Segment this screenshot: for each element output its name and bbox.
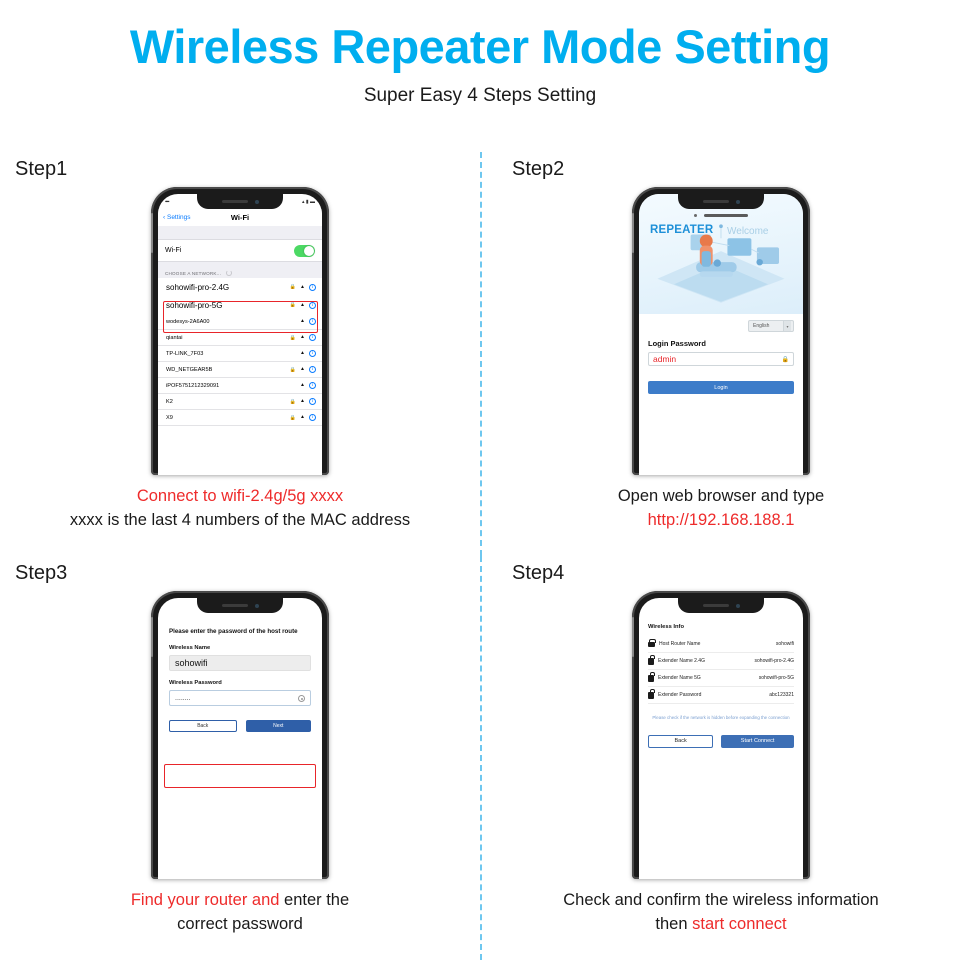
phone-mockup-1: ▪▪▪ ▪ 9:41 ▴ ▮ ▬ ‹ Settings Wi-Fi	[151, 187, 329, 475]
step-2-caption-line2: http://192.168.188.1	[500, 509, 942, 533]
wireless-info-label: Extender Password	[658, 692, 701, 698]
step-1-caption-line1: Connect to wifi-2.4g/5g xxxx	[18, 485, 462, 509]
login-button[interactable]: Login	[648, 381, 794, 394]
wireless-info-row: Extender Name 2.4Gsohowifi-pro-2.4G	[648, 653, 794, 670]
wifi-signal-icon: ▲	[300, 335, 305, 340]
network-list-item[interactable]: K2🔒▲i	[158, 394, 322, 410]
extender-icon	[648, 692, 654, 699]
info-icon[interactable]: i	[309, 414, 316, 421]
camera-icon	[255, 604, 259, 608]
speaker-icon	[222, 604, 248, 607]
wireless-info-value: sohowifi-pro-5G	[759, 675, 794, 681]
infographic-page: Wireless Repeater Mode Setting Super Eas…	[0, 0, 960, 960]
page-header: Wireless Repeater Mode Setting Super Eas…	[0, 0, 960, 107]
phone-screen-wireless-info: Wireless Info Host Router NamesohowifiEx…	[639, 598, 803, 879]
wireless-info-row: Extender Name 5Gsohowifi-pro-5G	[648, 670, 794, 687]
wireless-info-label: Extender Name 2.4G	[658, 658, 705, 664]
battery-icon: ▴ ▮ ▬	[302, 199, 315, 205]
wifi-signal-icon: ▲	[300, 285, 305, 290]
info-icon[interactable]: i	[309, 302, 316, 309]
step-1-label: Step1	[15, 158, 480, 181]
ios-nav-bar: ‹ Settings Wi-Fi	[158, 209, 322, 226]
lock-icon: 🔒	[290, 302, 296, 308]
phone-screen-wifi-settings: ▪▪▪ ▪ 9:41 ▴ ▮ ▬ ‹ Settings Wi-Fi	[158, 194, 322, 475]
back-button[interactable]: Back	[169, 720, 237, 732]
step-1-caption-line2: xxxx is the last 4 numbers of the MAC ad…	[18, 509, 462, 533]
phone-notch-icon	[197, 194, 283, 209]
form-actions: Back Next	[169, 720, 311, 732]
wifi-signal-icon: ▲	[300, 399, 305, 404]
language-value: English	[753, 323, 769, 329]
wireless-info-label: Host Router Name	[659, 641, 700, 647]
network-name: K2	[166, 399, 173, 405]
choose-network-label: CHOOSE A NETWORK...	[165, 271, 221, 276]
lock-icon: 🔒	[290, 367, 296, 373]
wireless-info-value: abc123321	[769, 692, 794, 698]
wifi-signal-icon: ▲	[300, 351, 305, 356]
info-icon[interactable]: i	[309, 366, 316, 373]
step-4-caption: Check and confirm the wireless informati…	[482, 889, 960, 937]
step-2-label: Step2	[512, 158, 960, 181]
camera-icon	[255, 200, 259, 204]
step-4-caption-line1: Check and confirm the wireless informati…	[500, 889, 942, 913]
step-4-caption-line2: then start connect	[500, 913, 942, 937]
info-icon[interactable]: i	[309, 350, 316, 357]
network-list-item[interactable]: qiantai🔒▲i	[158, 330, 322, 346]
network-icons: 🔒▲i	[290, 334, 316, 341]
network-name: qiantai	[166, 335, 182, 341]
network-name: X9	[166, 415, 173, 421]
form-title: Please enter the password of the host ro…	[169, 628, 311, 635]
wireless-name-value: sohowifi	[175, 658, 208, 668]
wireless-info-actions: Back Start Connect	[648, 735, 794, 748]
repeater-login-form: English ▾ Login Password admin 🔒 Login	[639, 314, 803, 394]
steps-grid: Step1 ▪▪▪ ▪ 9:41 ▴ ▮ ▬	[0, 152, 960, 960]
wireless-info-table: Host Router NamesohowifiExtender Name 2.…	[648, 636, 794, 704]
step-4-caption-black: then	[655, 915, 692, 933]
wifi-toggle-switch[interactable]	[294, 245, 315, 257]
router-icon	[648, 642, 655, 647]
wifi-toggle-row[interactable]: Wi-Fi	[158, 239, 322, 262]
wifi-signal-icon: ▲	[300, 383, 305, 388]
wireless-info-title: Wireless Info	[648, 624, 794, 630]
speaker-icon	[703, 200, 729, 203]
step-2-phone-wrap: REPEATER Welcome	[482, 187, 960, 475]
step-3-caption-line2: correct password	[18, 913, 462, 937]
wireless-info-row-left: Extender Password	[648, 692, 701, 699]
step-1-caption: Connect to wifi-2.4g/5g xxxx xxxx is the…	[0, 485, 480, 533]
eye-icon[interactable]	[298, 695, 305, 702]
network-list-item[interactable]: X9🔒▲i	[158, 410, 322, 426]
hidden-network-hint: Please check if the network is hidden be…	[648, 715, 794, 722]
step-3-caption-line1: Find your router and enter the	[18, 889, 462, 913]
step-4-label: Step4	[512, 562, 960, 585]
next-button[interactable]: Next	[246, 720, 312, 732]
info-icon[interactable]: i	[309, 398, 316, 405]
info-icon[interactable]: i	[309, 284, 316, 291]
step-4-cell: Step4 Wireless Info Host Router Namesoho…	[480, 556, 960, 960]
network-name: wodesys-2A6A00	[166, 319, 210, 325]
lock-icon: 🔒	[290, 284, 296, 290]
info-icon[interactable]: i	[309, 334, 316, 341]
language-select[interactable]: English ▾	[748, 320, 794, 332]
info-icon[interactable]: i	[309, 382, 316, 389]
network-list-item[interactable]: WD_NETGEAR5B🔒▲i	[158, 362, 322, 378]
repeater-hero-banner: REPEATER Welcome	[639, 194, 803, 314]
lock-icon: 🔒	[290, 415, 296, 421]
step-3-caption: Find your router and enter the correct p…	[0, 889, 480, 937]
network-name: TP-LINK_7F03	[166, 351, 203, 357]
wireless-name-label: Wireless Name	[169, 645, 311, 651]
network-icons: ▲i	[300, 318, 316, 325]
network-name: sohowifi-pro-5G	[166, 301, 222, 310]
wireless-info-row-left: Host Router Name	[648, 641, 700, 647]
start-connect-button[interactable]: Start Connect	[721, 735, 794, 748]
login-password-label: Login Password	[648, 339, 794, 348]
network-icons: 🔒▲i	[290, 284, 316, 291]
network-icons: 🔒▲i	[290, 302, 316, 309]
network-icons: 🔒▲i	[290, 414, 316, 421]
wireless-info-row: Host Router Namesohowifi	[648, 636, 794, 653]
wifi-signal-icon: ▲	[300, 303, 305, 308]
wireless-info-panel: Wireless Info Host Router NamesohowifiEx…	[639, 598, 803, 879]
network-icons: 🔒▲i	[290, 398, 316, 405]
network-list-item[interactable]: iPOF5751212329091▲i	[158, 378, 322, 394]
info-icon[interactable]: i	[309, 318, 316, 325]
network-name: sohowifi-pro-2.4G	[166, 283, 229, 292]
wireless-password-value: ........	[175, 695, 191, 702]
network-icons: ▲i	[300, 350, 316, 357]
step-3-caption-black: enter the	[279, 891, 349, 909]
wireless-password-input[interactable]: ........	[169, 690, 311, 706]
page-subtitle: Super Easy 4 Steps Setting	[0, 85, 960, 107]
phone-mockup-4: Wireless Info Host Router NamesohowifiEx…	[632, 591, 810, 879]
lock-icon: 🔒	[290, 335, 296, 341]
wifi-signal-icon: ▲	[300, 367, 305, 372]
wifi-toggle-label: Wi-Fi	[165, 247, 181, 254]
wireless-info-row-left: Extender Name 5G	[648, 675, 701, 682]
wifi-signal-icon: ▲	[300, 415, 305, 420]
step-2-caption-line1: Open web browser and type	[500, 485, 942, 509]
phone-screen-password-entry: Please enter the password of the host ro…	[158, 598, 322, 879]
speaker-icon	[703, 604, 729, 607]
extender-icon	[648, 658, 654, 665]
host-route-form: Please enter the password of the host ro…	[158, 598, 322, 879]
speaker-icon	[222, 200, 248, 203]
step-3-caption-red: Find your router and	[131, 891, 280, 909]
network-icons: ▲i	[300, 382, 316, 389]
network-name: WD_NETGEAR5B	[166, 367, 212, 373]
network-list: sohowifi-pro-2.4G🔒▲isohowifi-pro-5G🔒▲iwo…	[158, 278, 322, 426]
step-4-caption-red: start connect	[692, 915, 786, 933]
step-3-label: Step3	[15, 562, 480, 585]
wireless-password-label: Wireless Password	[169, 680, 311, 686]
phone-notch-icon	[678, 598, 764, 613]
choose-network-header: CHOOSE A NETWORK...	[158, 262, 322, 278]
network-name: iPOF5751212329091	[166, 383, 219, 389]
step-3-cell: Step3 Please enter the password of the h…	[0, 556, 480, 960]
wireless-info-value: sohowifi-pro-2.4G	[755, 658, 794, 664]
wireless-info-value: sohowifi	[776, 641, 794, 647]
phone-notch-icon	[678, 194, 764, 209]
step-2-caption: Open web browser and type http://192.168…	[482, 485, 960, 533]
camera-icon	[736, 604, 740, 608]
login-password-input[interactable]: admin 🔒	[648, 352, 794, 366]
login-password-value: admin	[653, 354, 676, 364]
wireless-info-row-left: Extender Name 2.4G	[648, 658, 705, 665]
network-icons: 🔒▲i	[290, 366, 316, 373]
wifi-signal-icon: ▲	[300, 319, 305, 324]
wireless-info-label: Extender Name 5G	[658, 675, 701, 681]
lock-icon: 🔒	[290, 399, 296, 405]
step-4-phone-wrap: Wireless Info Host Router NamesohowifiEx…	[482, 591, 960, 879]
network-list-item[interactable]: wodesys-2A6A00▲i	[158, 314, 322, 330]
lock-icon: 🔒	[782, 356, 789, 363]
nav-spacer	[158, 226, 322, 239]
extender-icon	[648, 675, 654, 682]
phone-mockup-3: Please enter the password of the host ro…	[151, 591, 329, 879]
step-3-phone-wrap: Please enter the password of the host ro…	[0, 591, 480, 879]
network-list-item[interactable]: sohowifi-pro-5G🔒▲i	[158, 296, 322, 314]
network-list-item[interactable]: sohowifi-pro-2.4G🔒▲i	[158, 278, 322, 296]
phone-notch-icon	[197, 598, 283, 613]
loading-spinner-icon	[226, 270, 232, 276]
page-title: Wireless Repeater Mode Setting	[0, 22, 960, 71]
camera-icon	[736, 200, 740, 204]
signal-bars-icon: ▪▪▪ ▪	[165, 199, 168, 205]
step-2-cell: Step2 REPEATER	[480, 152, 960, 556]
nav-title: Wi-Fi	[158, 213, 322, 222]
network-list-item[interactable]: TP-LINK_7F03▲i	[158, 346, 322, 362]
isometric-illustration-icon	[639, 194, 803, 305]
back-button[interactable]: Back	[648, 735, 713, 748]
step-1-cell: Step1 ▪▪▪ ▪ 9:41 ▴ ▮ ▬	[0, 152, 480, 556]
phone-mockup-2: REPEATER Welcome	[632, 187, 810, 475]
chevron-down-icon: ▾	[783, 321, 791, 331]
wireless-info-row: Extender Passwordabc123321	[648, 687, 794, 704]
wireless-name-input[interactable]: sohowifi	[169, 655, 311, 671]
step-1-phone-wrap: ▪▪▪ ▪ 9:41 ▴ ▮ ▬ ‹ Settings Wi-Fi	[0, 187, 480, 475]
phone-screen-repeater-login: REPEATER Welcome	[639, 194, 803, 475]
